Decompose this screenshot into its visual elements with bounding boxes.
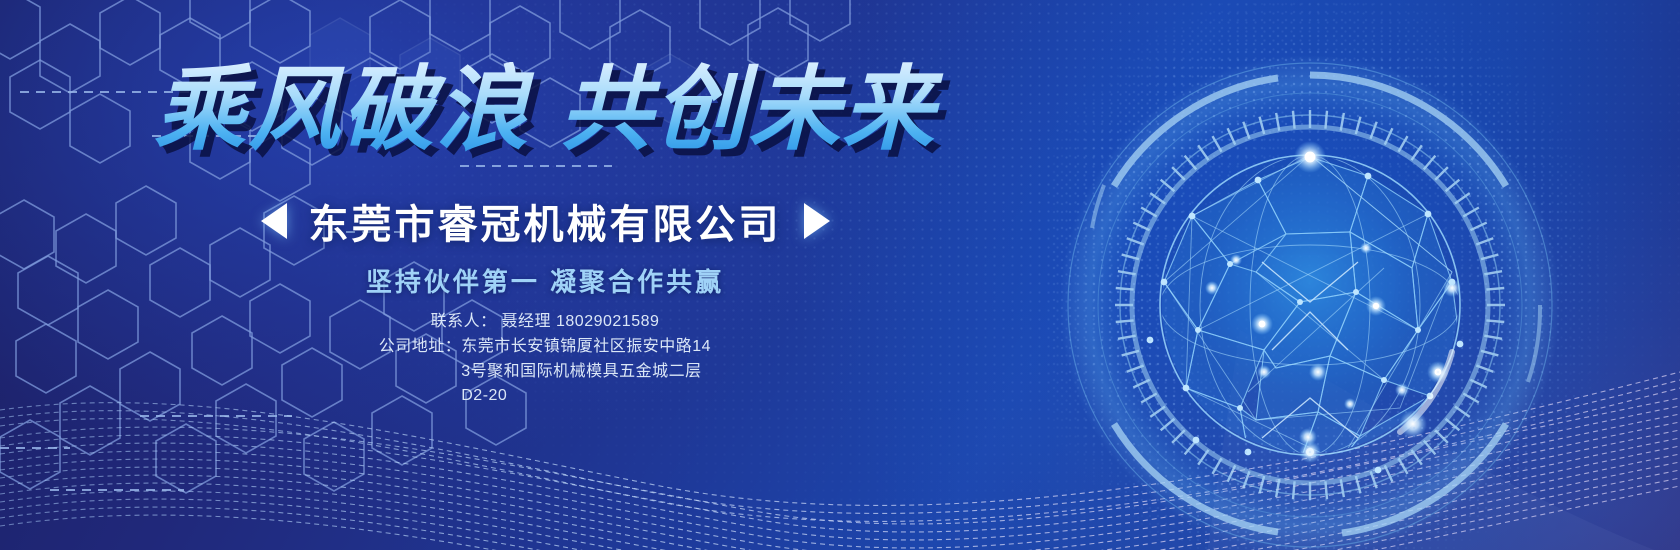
globe-halftone-texture (1050, 0, 1680, 550)
promotional-banner: 乘风破浪共创未来 东莞市睿冠机械有限公司 坚持伙伴第一 凝聚合作共赢 联系人： … (0, 0, 1680, 550)
company-address-line: 公司地址： 东莞市长安镇锦厦社区振安中路143号聚和国际机械模具五金城二层D2-… (0, 335, 1090, 409)
banner-text-content: 乘风破浪共创未来 东莞市睿冠机械有限公司 坚持伙伴第一 凝聚合作共赢 联系人： … (0, 0, 1090, 550)
page-title: 乘风破浪共创未来 (0, 62, 1090, 159)
contact-info: 联系人： 聂经理 18029021589 公司地址： 东莞市长安镇锦厦社区振安中… (0, 310, 1090, 409)
address-label: 公司地址： (379, 335, 462, 360)
right-triangle-icon (804, 203, 830, 239)
title-part-2: 共创未来 (560, 59, 936, 161)
left-triangle-icon (261, 203, 287, 239)
company-name: 东莞市睿冠机械有限公司 (309, 192, 782, 250)
contact-person-line: 联系人： 聂经理 18029021589 (0, 310, 1090, 335)
address-value: 东莞市长安镇锦厦社区振安中路143号聚和国际机械模具五金城二层D2-20 (461, 335, 711, 409)
network-nodes (1147, 141, 1464, 473)
title-part-1: 乘风破浪 (154, 59, 530, 161)
tagline: 坚持伙伴第一 凝聚合作共赢 (0, 262, 1090, 299)
company-name-row: 东莞市睿冠机械有限公司 (0, 192, 1090, 250)
